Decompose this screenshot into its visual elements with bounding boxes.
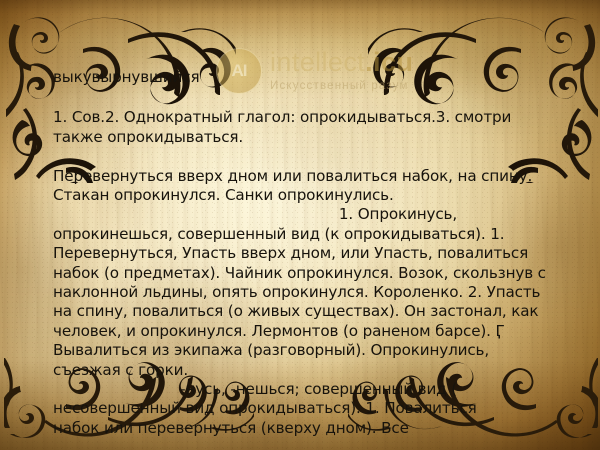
slide-canvas: AI intellect.icu Искусственный разум вык… — [0, 0, 600, 450]
sense-definition-6: несовершенный вид опрокидываться). 1. По… — [53, 399, 553, 418]
dictionary-entry: выкувырнувшийся 1. Сов.2. Однократный гл… — [53, 68, 553, 438]
headword: выкувырнувшийся — [53, 68, 553, 87]
sense-definition-2: Перевернуться вверх дном или повалиться … — [53, 167, 553, 206]
sense-definition-3: 1. Опрокинусь, — [53, 205, 553, 224]
sense-definition-4: опрокинешься, совершенный вид (к опрокид… — [53, 225, 553, 380]
sense-definition-5: -нусь, -нешься; совершенный вид ( — [53, 380, 553, 399]
sense-definition-1: 1. Сов.2. Однократный глагол: опрокидыва… — [53, 108, 553, 147]
sense-definition-7: набок или перевернуться (кверху дном). В… — [53, 419, 553, 438]
paragraph-spacer — [53, 147, 553, 166]
